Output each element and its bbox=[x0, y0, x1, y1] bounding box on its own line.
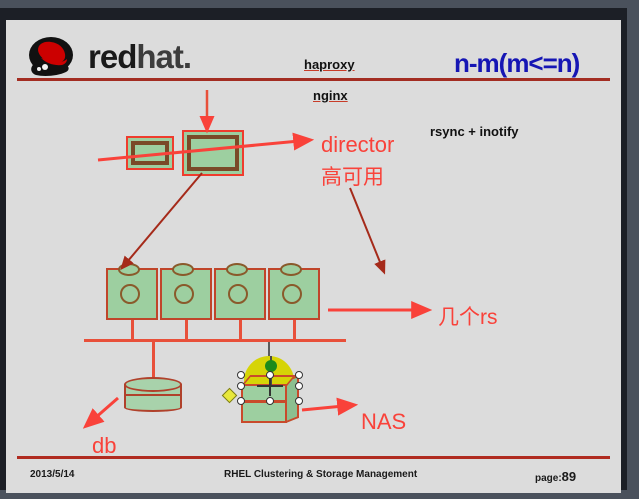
footer-title: RHEL Clustering & Storage Management bbox=[224, 469, 417, 480]
director-node-1-bezel bbox=[131, 141, 169, 165]
note-rsync-inotify: rsync + inotify bbox=[430, 124, 519, 139]
nas-selected-object[interactable] bbox=[224, 356, 308, 432]
resize-handle-nw[interactable] bbox=[237, 371, 245, 379]
arrow-director-to-rs bbox=[122, 173, 202, 268]
slide-bezel: redhat. haproxy nginx rsync + inotify n-… bbox=[0, 8, 627, 490]
server-dial-icon bbox=[174, 284, 194, 304]
server-dial-icon bbox=[120, 284, 140, 304]
redhat-wordmark: redhat. bbox=[88, 38, 191, 76]
nas-front-lower bbox=[241, 401, 287, 423]
server-knob-icon bbox=[226, 263, 248, 276]
director-node-2 bbox=[182, 130, 244, 176]
label-several-rs: 几个rs bbox=[438, 301, 498, 331]
director-node-1 bbox=[126, 136, 174, 170]
screenshot-frame: redhat. haproxy nginx rsync + inotify n-… bbox=[0, 0, 639, 499]
presentation-slide: redhat. haproxy nginx rsync + inotify n-… bbox=[6, 20, 621, 493]
wordmark-hat: hat. bbox=[136, 38, 191, 75]
footer-page-number: 89 bbox=[562, 469, 576, 484]
real-server-2 bbox=[160, 268, 212, 320]
redhat-logo: redhat. bbox=[16, 36, 206, 80]
wire-server-2 bbox=[185, 320, 188, 340]
formula-text: n-m(m<=n) bbox=[454, 48, 579, 79]
label-db: db bbox=[92, 433, 116, 459]
wire-server-1 bbox=[131, 320, 134, 340]
wordmark-red: red bbox=[88, 38, 136, 75]
server-dial-icon bbox=[282, 284, 302, 304]
arrow-ha-to-rs bbox=[350, 188, 384, 272]
label-nas: NAS bbox=[361, 409, 406, 435]
server-knob-icon bbox=[118, 263, 140, 276]
server-dial-icon bbox=[228, 284, 248, 304]
real-server-3 bbox=[214, 268, 266, 320]
cylinder-seam bbox=[125, 394, 181, 396]
footer-page-label: page: bbox=[535, 473, 562, 484]
resize-handle-s[interactable] bbox=[266, 397, 274, 405]
director-node-2-bezel bbox=[187, 135, 239, 171]
resize-handle-ne[interactable] bbox=[295, 371, 303, 379]
wire-server-3 bbox=[239, 320, 242, 340]
resize-handle-w[interactable] bbox=[237, 382, 245, 390]
real-server-4 bbox=[268, 268, 320, 320]
label-director: director bbox=[321, 132, 394, 158]
resize-handle-se[interactable] bbox=[295, 397, 303, 405]
footer-date: 2013/5/14 bbox=[30, 469, 75, 480]
label-high-availability: 高可用 bbox=[321, 161, 384, 191]
database-cylinder bbox=[124, 377, 182, 415]
note-haproxy: haproxy bbox=[304, 57, 355, 72]
note-nginx: nginx bbox=[313, 88, 348, 103]
wire-server-4 bbox=[293, 320, 296, 340]
server-knob-icon bbox=[172, 263, 194, 276]
resize-handle-sw[interactable] bbox=[237, 397, 245, 405]
network-bus-line bbox=[84, 339, 346, 342]
cylinder-top bbox=[124, 377, 182, 392]
footer-page: page:89 bbox=[535, 469, 576, 484]
redhat-shadowman-icon bbox=[24, 36, 80, 78]
resize-handle-n[interactable] bbox=[266, 371, 274, 379]
header-divider-rule bbox=[17, 78, 610, 81]
crosshair-icon-v bbox=[269, 376, 271, 396]
server-knob-icon bbox=[280, 263, 302, 276]
wire-database bbox=[152, 342, 155, 378]
real-server-1 bbox=[106, 268, 158, 320]
arrow-to-db-label bbox=[86, 398, 118, 426]
adjust-handle-diamond[interactable] bbox=[222, 388, 238, 404]
arrow-to-nas-label bbox=[302, 405, 354, 410]
resize-handle-e[interactable] bbox=[295, 382, 303, 390]
